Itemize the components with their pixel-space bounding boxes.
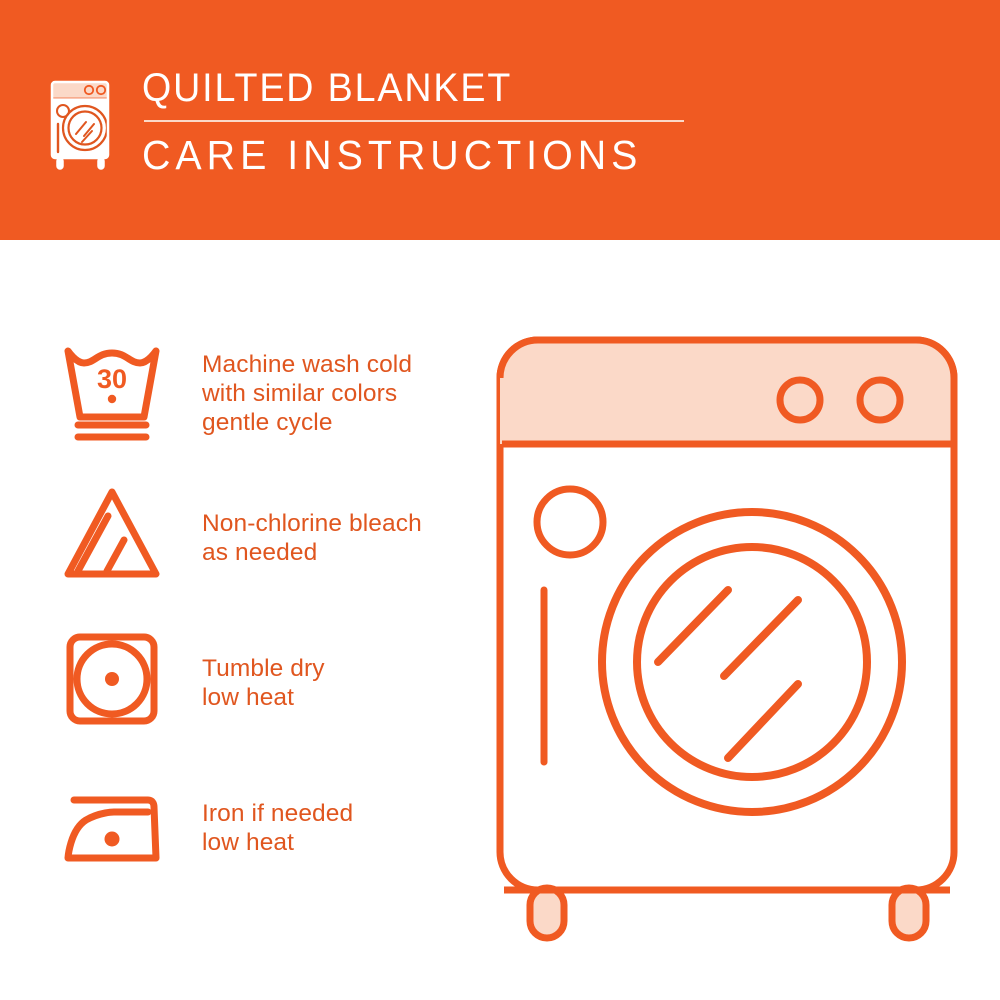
leg-left — [530, 888, 564, 938]
list-item: 30 Machine wash cold with similar colors… — [44, 330, 484, 475]
iron-low-heat-icon — [44, 765, 180, 883]
tumble-dry-low-icon — [44, 620, 180, 738]
control-panel — [500, 340, 954, 444]
header-title-group: QUILTED BLANKET CARE INSTRUCTIONS — [142, 62, 762, 180]
list-item-label: Iron if needed low heat — [202, 799, 353, 857]
list-item-label: Tumble dry low heat — [202, 654, 325, 712]
list-item: Non-chlorine bleach as needed — [44, 475, 484, 620]
page-subtitle: CARE INSTRUCTIONS — [142, 130, 737, 180]
front-load-washing-machine-illustration — [492, 332, 962, 942]
non-chlorine-bleach-triangle-icon — [44, 475, 180, 593]
care-instructions-list: 30 Machine wash cold with similar colors… — [44, 330, 484, 910]
title-divider — [144, 120, 684, 122]
list-item-label: Machine wash cold with similar colors ge… — [202, 350, 412, 437]
leg-right — [892, 888, 926, 938]
washing-machine-icon — [44, 64, 122, 176]
list-item: Iron if needed low heat — [44, 765, 484, 910]
wash-temperature-label: 30 — [97, 364, 127, 394]
page-title: QUILTED BLANKET — [142, 62, 725, 114]
machine-wash-tub-icon: 30 — [44, 330, 180, 448]
list-item-label: Non-chlorine bleach as needed — [202, 509, 422, 567]
list-item: Tumble dry low heat — [44, 620, 484, 765]
header-banner: QUILTED BLANKET CARE INSTRUCTIONS — [0, 0, 1000, 240]
